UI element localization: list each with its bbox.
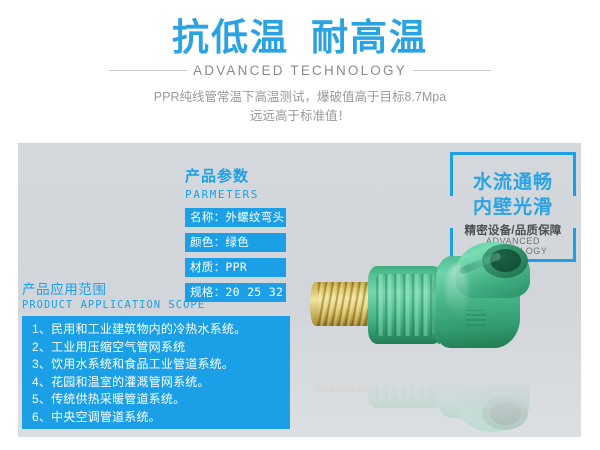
subtitle-row: ADVANCED TECHNOLOGY [0,63,600,78]
lead-line-1: PPR纯线管常温下高温测试，爆破值高于目标8.7Mpa [0,88,600,107]
lead-line-2: 远远高于标准值！ [0,107,600,126]
product-fitting [306,238,546,358]
parameters-heading-cn: 产品参数 [185,165,286,186]
list-item: 2、工业用压缩空气管网系统 [32,339,290,357]
brass-thread-grooves [312,282,374,326]
table-row: 材质：PPR [185,258,286,277]
rule-left [109,70,187,71]
title-part-1: 抗低温 [172,17,289,58]
table-row: 名称：外螺纹弯头 [185,208,286,227]
elbow-highlight [446,264,468,318]
scope-heading-cn: 产品应用范围 [22,278,205,298]
brass-thread-end [310,283,319,325]
page-title: 抗低温耐高温 [0,16,600,60]
collar-ribs [376,274,434,336]
list-item: 5、传统供热采暖管道系统。 [32,391,290,409]
scope-list: 1、民用和工业建筑物内的冷热水系统。 2、工业用压缩空气管网系统 3、饮用水系统… [22,316,290,429]
table-row: 颜色：绿色 [185,233,286,252]
elbow-embossed-mark [466,310,486,326]
reflection-socket-inner [490,402,521,425]
scope-heading-en: PRODUCT APPLICATION SCOPE [22,299,205,311]
product-image [306,238,546,437]
subtitle-english: ADVANCED TECHNOLOGY [187,63,413,78]
rule-right [413,70,491,71]
content-panel: 产品参数 PARMETERS 名称：外螺纹弯头 颜色：绿色 材质：PPR 规格：… [18,143,581,437]
callout-line-1: 水流通畅 [450,170,576,195]
list-item: 4、花园和温室的灌溉管网系统。 [32,374,290,392]
callout-headline: 水流通畅 内壁光滑 [450,170,576,220]
parameters-heading-en: PARMETERS [185,188,286,201]
callout-frame-top [453,152,573,155]
product-marketing-banner: 抗低温耐高温 ADVANCED TECHNOLOGY PPR纯线管常温下高温测试… [0,0,600,450]
title-part-2: 耐高温 [311,17,428,58]
lead-text: PPR纯线管常温下高温测试，爆破值高于目标8.7Mpa 远远高于标准值！ [0,88,600,126]
list-item: 6、中央空调管道系统。 [32,409,290,427]
header-section: 抗低温耐高温 ADVANCED TECHNOLOGY PPR纯线管常温下高温测试… [0,0,600,143]
list-item: 1、民用和工业建筑物内的冷热水系统。 [32,321,290,339]
list-item: 3、饮用水系统和食品工业管道系统。 [32,356,290,374]
scope-heading: 产品应用范围 PRODUCT APPLICATION SCOPE [22,278,205,311]
callout-line-2: 内壁光滑 [450,195,576,220]
product-reflection [306,356,546,436]
